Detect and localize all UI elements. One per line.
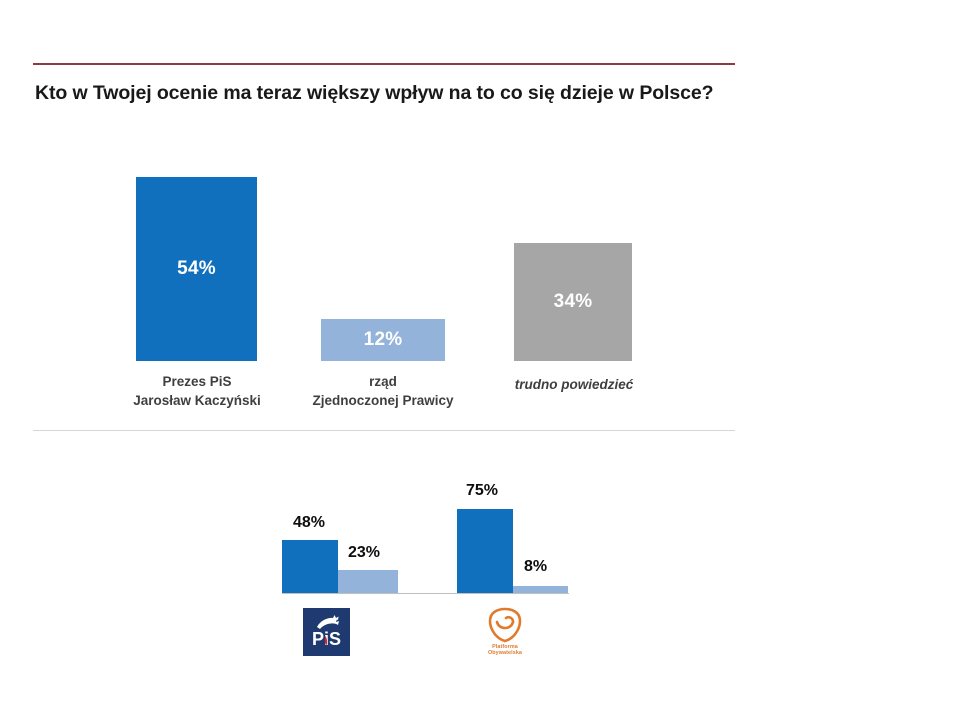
chart-baseline	[282, 593, 569, 594]
category-label-trudno-powiedziec: trudno powiedzieć	[478, 375, 670, 394]
po-logo-caption: Platforma Obywatelska	[476, 644, 534, 657]
bar-label-pis-primary: 48%	[293, 514, 325, 532]
bar-prezes-pis: 54%	[136, 177, 257, 361]
po-logo: Platforma Obywatelska	[476, 606, 534, 662]
bar-value-label: 12%	[364, 329, 403, 351]
bar-pis-group-primary	[282, 540, 338, 593]
pis-logo-mark: PiS	[303, 608, 350, 656]
pis-logo: PiS	[303, 608, 350, 656]
category-label-prezes-pis: Prezes PiS Jarosław Kaczyński	[86, 372, 308, 410]
po-logo-caption-line2: Obywatelska	[476, 650, 534, 656]
bar-trudno-powiedziec: 34%	[514, 243, 632, 361]
po-logo-mark	[476, 606, 534, 644]
bar-pis-group-secondary	[338, 570, 398, 593]
primary-bar-chart: 54% 12% 34% Prezes PiS Jarosław Kaczyńsk…	[0, 0, 960, 430]
bar-label-po-primary: 75%	[466, 482, 498, 500]
bar-label-pis-secondary: 23%	[348, 544, 380, 562]
slide-canvas: Kto w Twojej ocenie ma teraz większy wpł…	[0, 0, 960, 720]
category-label-line1: rząd	[283, 372, 483, 391]
bar-label-po-secondary: 8%	[524, 558, 547, 576]
category-label-line1: trudno powiedzieć	[478, 375, 670, 394]
category-label-line2: Jarosław Kaczyński	[86, 391, 308, 410]
breakdown-bar-chart: 48% 23% 75% 8%	[0, 430, 960, 720]
bar-value-label: 54%	[177, 258, 216, 280]
category-label-rzad: rząd Zjednoczonej Prawicy	[283, 372, 483, 410]
category-label-line1: Prezes PiS	[86, 372, 308, 391]
bar-po-group-primary	[457, 509, 513, 593]
bar-rzad-zjednoczonej-prawicy: 12%	[321, 319, 445, 361]
category-label-line2: Zjednoczonej Prawicy	[283, 391, 483, 410]
bar-value-label: 34%	[554, 291, 593, 313]
bar-po-group-secondary	[513, 586, 568, 593]
